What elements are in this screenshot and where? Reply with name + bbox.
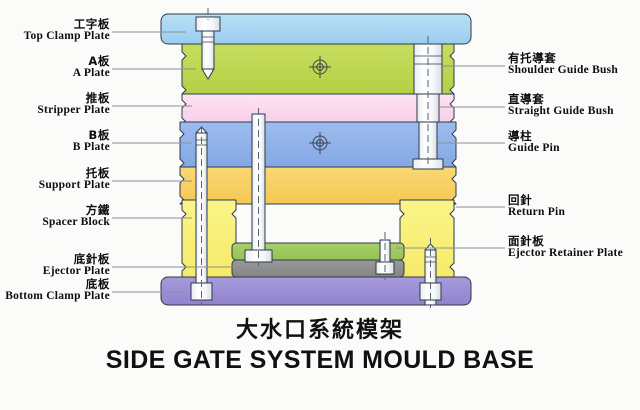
label-shoulder-guide-bush: 有托導套 Shoulder Guide Bush — [508, 52, 640, 76]
plate-stripper-plate — [182, 94, 454, 126]
label-return-pin-cn: 回針 — [508, 194, 640, 206]
label-support-plate-en: Support Plate — [0, 179, 110, 191]
plate-spacer-block-left — [182, 200, 236, 277]
diagram-title: 大水口系統模架 SIDE GATE SYSTEM MOULD BASE — [0, 312, 640, 375]
label-support-plate-cn: 托板 — [0, 167, 110, 179]
label-top-clamp-plate: 工字板 Top Clamp Plate — [0, 18, 110, 42]
label-spacer-block-en: Spacer Block — [0, 216, 110, 228]
label-top-clamp-plate-cn: 工字板 — [0, 18, 110, 30]
label-spacer-block-cn: 方鐵 — [0, 204, 110, 216]
label-stripper-plate: 推板 Stripper Plate — [0, 92, 110, 116]
plate-support-plate — [180, 167, 456, 204]
label-shoulder-guide-bush-cn: 有托導套 — [508, 52, 640, 64]
label-ejector-retainer-plate: 面針板 Ejector Retainer Plate — [508, 235, 640, 259]
diagram-title-cn: 大水口系統模架 — [0, 312, 640, 344]
label-guide-pin-cn: 導柱 — [508, 130, 640, 142]
label-top-clamp-plate-en: Top Clamp Plate — [0, 30, 110, 42]
mould-base-diagram-page: 工字板 Top Clamp Plate A板 A Plate 推板 Stripp… — [0, 0, 640, 410]
label-b-plate-en: B Plate — [0, 141, 110, 153]
label-a-plate-cn: A板 — [0, 55, 110, 67]
label-ejector-plate: 底針板 Ejector Plate — [0, 253, 110, 277]
label-spacer-block: 方鐵 Spacer Block — [0, 204, 110, 228]
label-b-plate: B板 B Plate — [0, 129, 110, 153]
plate-a-plate — [182, 44, 454, 98]
label-ejector-plate-cn: 底針板 — [0, 253, 110, 265]
label-guide-pin-en: Guide Pin — [508, 142, 640, 154]
label-stripper-plate-en: Stripper Plate — [0, 104, 110, 116]
label-return-pin-en: Return Pin — [508, 206, 640, 218]
label-bottom-clamp-plate-en: Bottom Clamp Plate — [0, 290, 110, 302]
label-straight-guide-bush-en: Straight Guide Bush — [508, 105, 640, 117]
label-ejector-retainer-plate-en: Ejector Retainer Plate — [508, 247, 640, 259]
label-stripper-plate-cn: 推板 — [0, 92, 110, 104]
label-a-plate: A板 A Plate — [0, 55, 110, 79]
diagram-title-en: SIDE GATE SYSTEM MOULD BASE — [0, 346, 640, 375]
label-bottom-clamp-plate-cn: 底板 — [0, 278, 110, 290]
label-straight-guide-bush: 直導套 Straight Guide Bush — [508, 93, 640, 117]
label-ejector-retainer-plate-cn: 面針板 — [508, 235, 640, 247]
label-a-plate-en: A Plate — [0, 67, 110, 79]
label-ejector-plate-en: Ejector Plate — [0, 265, 110, 277]
label-guide-pin: 導柱 Guide Pin — [508, 130, 640, 154]
label-straight-guide-bush-cn: 直導套 — [508, 93, 640, 105]
label-return-pin: 回針 Return Pin — [508, 194, 640, 218]
label-b-plate-cn: B板 — [0, 129, 110, 141]
label-support-plate: 托板 Support Plate — [0, 167, 110, 191]
label-bottom-clamp-plate: 底板 Bottom Clamp Plate — [0, 278, 110, 302]
label-shoulder-guide-bush-en: Shoulder Guide Bush — [508, 64, 640, 76]
